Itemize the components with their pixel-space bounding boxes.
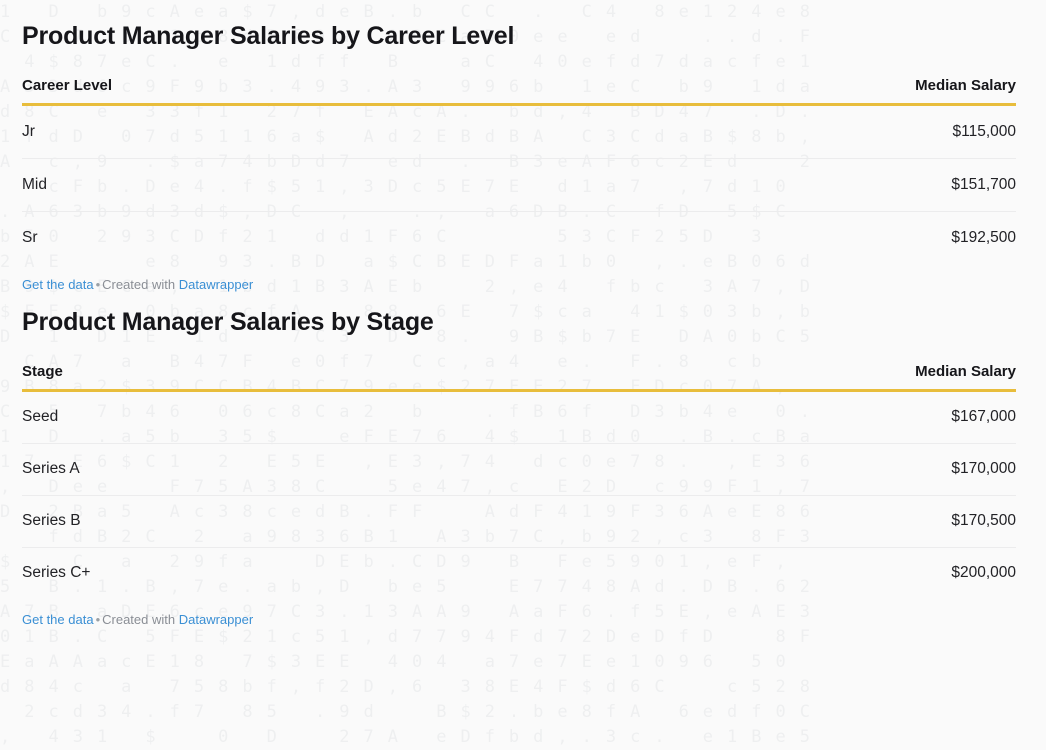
table-row: Series A $170,000 [22,443,1016,495]
column-header-stage[interactable]: Stage [22,363,424,391]
page-root: Product Manager Salaries by Career Level… [0,0,1046,750]
chart-footer-secondary: Get the data•Created with Datawrapper [22,599,1016,627]
datawrapper-link[interactable]: Datawrapper [179,277,253,292]
table-row: Sr $192,500 [22,211,1016,264]
column-header-median-salary[interactable]: Median Salary [424,363,1016,391]
cell-median-salary: $200,000 [424,547,1016,599]
table-header-row: Stage Median Salary [22,363,1016,391]
created-with-label: Created with [102,612,175,627]
table-body: Seed $167,000 Series A $170,000 Series B… [22,390,1016,599]
cell-career-level: Jr [22,104,491,158]
cell-median-salary: $170,000 [424,443,1016,495]
page-title-secondary: Product Manager Salaries by Stage [22,308,1016,337]
cell-median-salary: $192,500 [491,211,1016,264]
cell-median-salary: $170,500 [424,495,1016,547]
cell-median-salary: $151,700 [491,158,1016,211]
cell-stage: Seed [22,390,424,443]
cell-career-level: Sr [22,211,491,264]
salary-table-career-level: Career Level Median Salary Jr $115,000 M… [22,77,1016,264]
column-header-career-level[interactable]: Career Level [22,77,491,105]
table-row: Series B $170,500 [22,495,1016,547]
footer-separator: • [94,277,103,292]
chart-stage: Product Manager Salaries by Stage Stage … [0,292,1046,627]
table-row: Seed $167,000 [22,390,1016,443]
cell-median-salary: $115,000 [491,104,1016,158]
cell-stage: Series C+ [22,547,424,599]
table-row: Mid $151,700 [22,158,1016,211]
get-the-data-link[interactable]: Get the data [22,277,94,292]
chart-footer: Get the data•Created with Datawrapper [22,264,1016,292]
table-row: Series C+ $200,000 [22,547,1016,599]
table-header: Stage Median Salary [22,363,1016,391]
created-with-label: Created with [102,277,175,292]
column-header-median-salary[interactable]: Median Salary [491,77,1016,105]
cell-stage: Series B [22,495,424,547]
table-body: Jr $115,000 Mid $151,700 Sr $192,500 [22,104,1016,264]
page-title: Product Manager Salaries by Career Level [22,22,1016,51]
cell-median-salary: $167,000 [424,390,1016,443]
salary-table-stage: Stage Median Salary Seed $167,000 Series… [22,363,1016,599]
cell-career-level: Mid [22,158,491,211]
footer-separator: • [94,612,103,627]
get-the-data-link[interactable]: Get the data [22,612,94,627]
table-header: Career Level Median Salary [22,77,1016,105]
datawrapper-link[interactable]: Datawrapper [179,612,253,627]
chart-career-level: Product Manager Salaries by Career Level… [0,0,1046,292]
table-row: Jr $115,000 [22,104,1016,158]
table-header-row: Career Level Median Salary [22,77,1016,105]
cell-stage: Series A [22,443,424,495]
